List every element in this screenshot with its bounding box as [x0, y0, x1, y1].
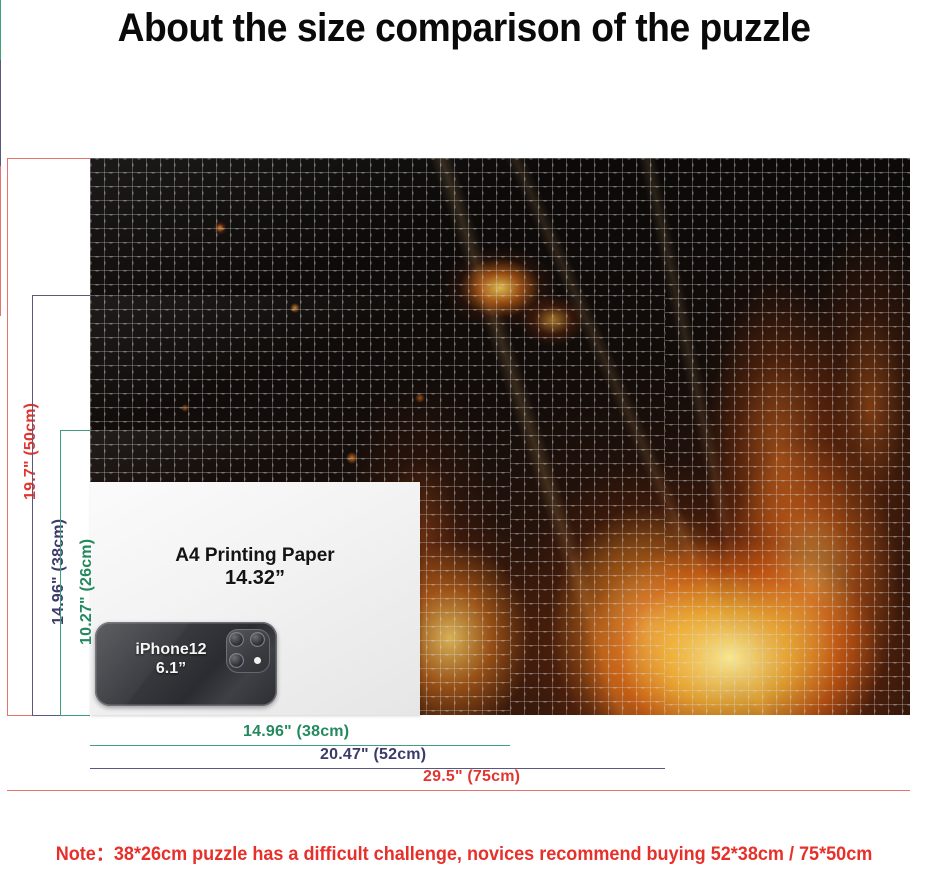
dim-tick-horizontal-large-left: [0, 166, 1, 241]
a4-paper-size: 14.32”: [90, 567, 420, 590]
dim-tick-vertical-large-top: [7, 158, 90, 159]
dim-tick-vertical-small-bottom: [60, 715, 90, 716]
dim-tick-horizontal-large-right: [0, 241, 1, 316]
iphone-label: iPhone12 6.1”: [95, 640, 247, 678]
page-title: About the size comparison of the puzzle: [32, 2, 895, 54]
dim-line-vertical-small: [60, 430, 61, 715]
dim-line-horizontal-large: [7, 790, 910, 791]
dim-tick-horizontal-medium-right: [0, 113, 1, 166]
iphone-size: 6.1”: [95, 659, 247, 678]
a4-paper-name: A4 Printing Paper: [90, 544, 420, 567]
dim-label-horizontal-medium: 20.47" (52cm): [320, 746, 426, 764]
dim-label-horizontal-small: 14.96" (38cm): [243, 723, 349, 741]
dim-tick-horizontal-medium-left: [0, 60, 1, 113]
dim-tick-vertical-small-top: [60, 430, 90, 431]
bottom-note: Note：38*26cm puzzle has a difficult chal…: [23, 843, 905, 867]
iphone-name: iPhone12: [95, 640, 247, 659]
dim-tick-horizontal-small-right: [0, 30, 1, 60]
dim-line-vertical-medium: [32, 295, 33, 715]
dim-label-vertical-medium: 14.96" (38cm): [50, 519, 68, 625]
dim-tick-horizontal-small-left: [0, 0, 1, 30]
camera-flash-icon: [254, 657, 261, 664]
dim-tick-vertical-medium-top: [32, 295, 90, 296]
dim-label-vertical-small: 10.27" (26cm): [78, 539, 96, 645]
dim-line-vertical-large: [7, 158, 8, 715]
dim-line-horizontal-medium: [90, 768, 665, 769]
camera-lens-icon: [250, 632, 265, 647]
dim-line-horizontal-small: [90, 745, 510, 746]
iphone-reference: iPhone12 6.1”: [95, 622, 277, 706]
dim-label-horizontal-large: 29.5" (75cm): [423, 768, 520, 786]
dim-label-vertical-large: 19.7" (50cm): [22, 403, 40, 500]
a4-paper-label: A4 Printing Paper 14.32”: [90, 544, 420, 590]
